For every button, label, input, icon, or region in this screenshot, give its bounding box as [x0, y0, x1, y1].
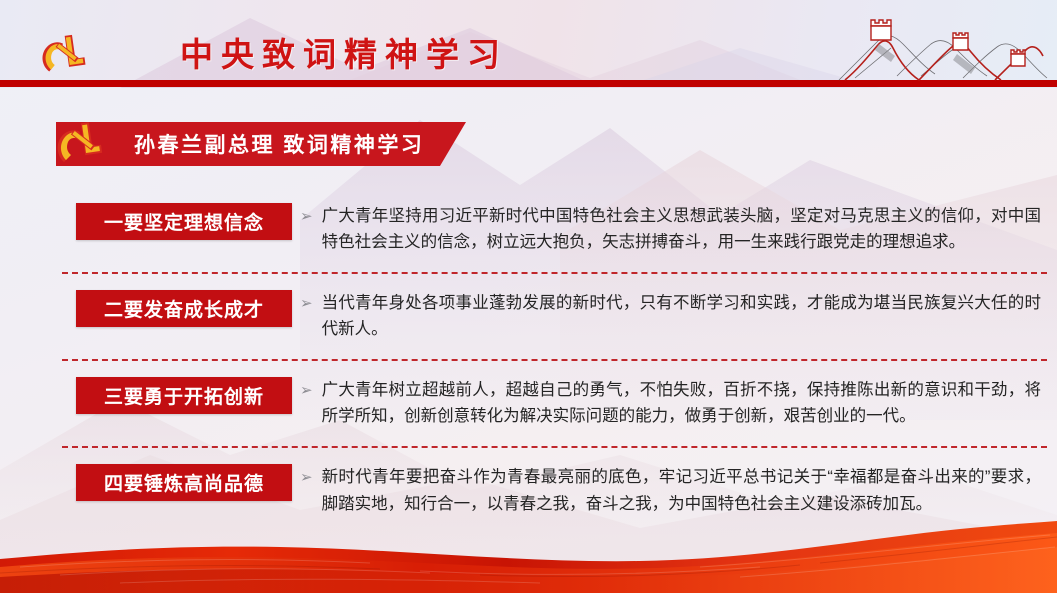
- subtitle-banner-body: 孙春兰副总理 致词精神学习: [56, 122, 466, 166]
- section-label-1[interactable]: 一要坚定理想信念: [76, 203, 292, 240]
- section-label-3[interactable]: 三要勇于开拓创新: [76, 377, 292, 414]
- content-sections: 一要坚定理想信念 ➢ 广大青年坚持用习近平新时代中国特色社会主义思想武装头脑，坚…: [0, 195, 1057, 518]
- bullet-arrow-icon: ➢: [300, 378, 313, 429]
- cpc-party-emblem-icon: [50, 116, 106, 168]
- bullet-arrow-icon: ➢: [300, 465, 313, 518]
- subtitle-banner-label: 孙春兰副总理 致词精神学习: [134, 129, 424, 159]
- section-paragraph-2: 当代青年身处各项事业蓬勃发展的新时代，只有不断学习和实践，才能成为堪当民族复兴大…: [322, 290, 1041, 342]
- red-silk-ribbon-decoration: [0, 515, 1057, 593]
- slide-root: 中央致词精神学习: [0, 0, 1057, 593]
- header-bar: 中央致词精神学习: [0, 0, 1057, 88]
- section-label-2[interactable]: 二要发奋成长成才: [76, 290, 292, 327]
- section-row: 四要锤炼高尚品德 ➢ 新时代青年要把奋斗作为青春最亮丽的底色，牢记习近平总书记关…: [0, 464, 1057, 518]
- section-paragraph-4: 新时代青年要把奋斗作为青春最亮丽的底色，牢记习近平总书记关于“幸福都是奋斗出来的…: [322, 464, 1041, 518]
- section-label-cell: 一要坚定理想信念: [0, 203, 300, 240]
- section-paragraph-cell: ➢ 广大青年坚持用习近平新时代中国特色社会主义思想武装头脑，坚定对马克思主义的信…: [300, 203, 1057, 255]
- section-label-cell: 四要锤炼高尚品德: [0, 464, 300, 501]
- section-row: 一要坚定理想信念 ➢ 广大青年坚持用习近平新时代中国特色社会主义思想武装头脑，坚…: [0, 195, 1057, 255]
- section-label-cell: 二要发奋成长成才: [0, 290, 300, 327]
- cpc-party-emblem-icon: [33, 29, 95, 77]
- subtitle-banner: 孙春兰副总理 致词精神学习: [56, 122, 466, 166]
- section-paragraph-3: 广大青年树立超越前人，超越自己的勇气，不怕失败，百折不挠，保持推陈出新的意识和干…: [322, 377, 1041, 429]
- great-wall-illustration-icon: [835, 14, 1051, 84]
- section-row: 二要发奋成长成才 ➢ 当代青年身处各项事业蓬勃发展的新时代，只有不断学习和实践，…: [0, 290, 1057, 342]
- section-row: 三要勇于开拓创新 ➢ 广大青年树立超越前人，超越自己的勇气，不怕失败，百折不挠，…: [0, 377, 1057, 429]
- section-paragraph-cell: ➢ 当代青年身处各项事业蓬勃发展的新时代，只有不断学习和实践，才能成为堪当民族复…: [300, 290, 1057, 342]
- section-label-4[interactable]: 四要锤炼高尚品德: [76, 464, 292, 501]
- page-title: 中央致词精神学习: [180, 32, 508, 78]
- bullet-arrow-icon: ➢: [300, 204, 313, 255]
- section-paragraph-1: 广大青年坚持用习近平新时代中国特色社会主义思想武装头脑，坚定对马克思主义的信仰，…: [322, 203, 1041, 255]
- bullet-arrow-icon: ➢: [300, 291, 313, 342]
- section-paragraph-cell: ➢ 新时代青年要把奋斗作为青春最亮丽的底色，牢记习近平总书记关于“幸福都是奋斗出…: [300, 464, 1057, 518]
- section-paragraph-cell: ➢ 广大青年树立超越前人，超越自己的勇气，不怕失败，百折不挠，保持推陈出新的意识…: [300, 377, 1057, 429]
- section-label-cell: 三要勇于开拓创新: [0, 377, 300, 414]
